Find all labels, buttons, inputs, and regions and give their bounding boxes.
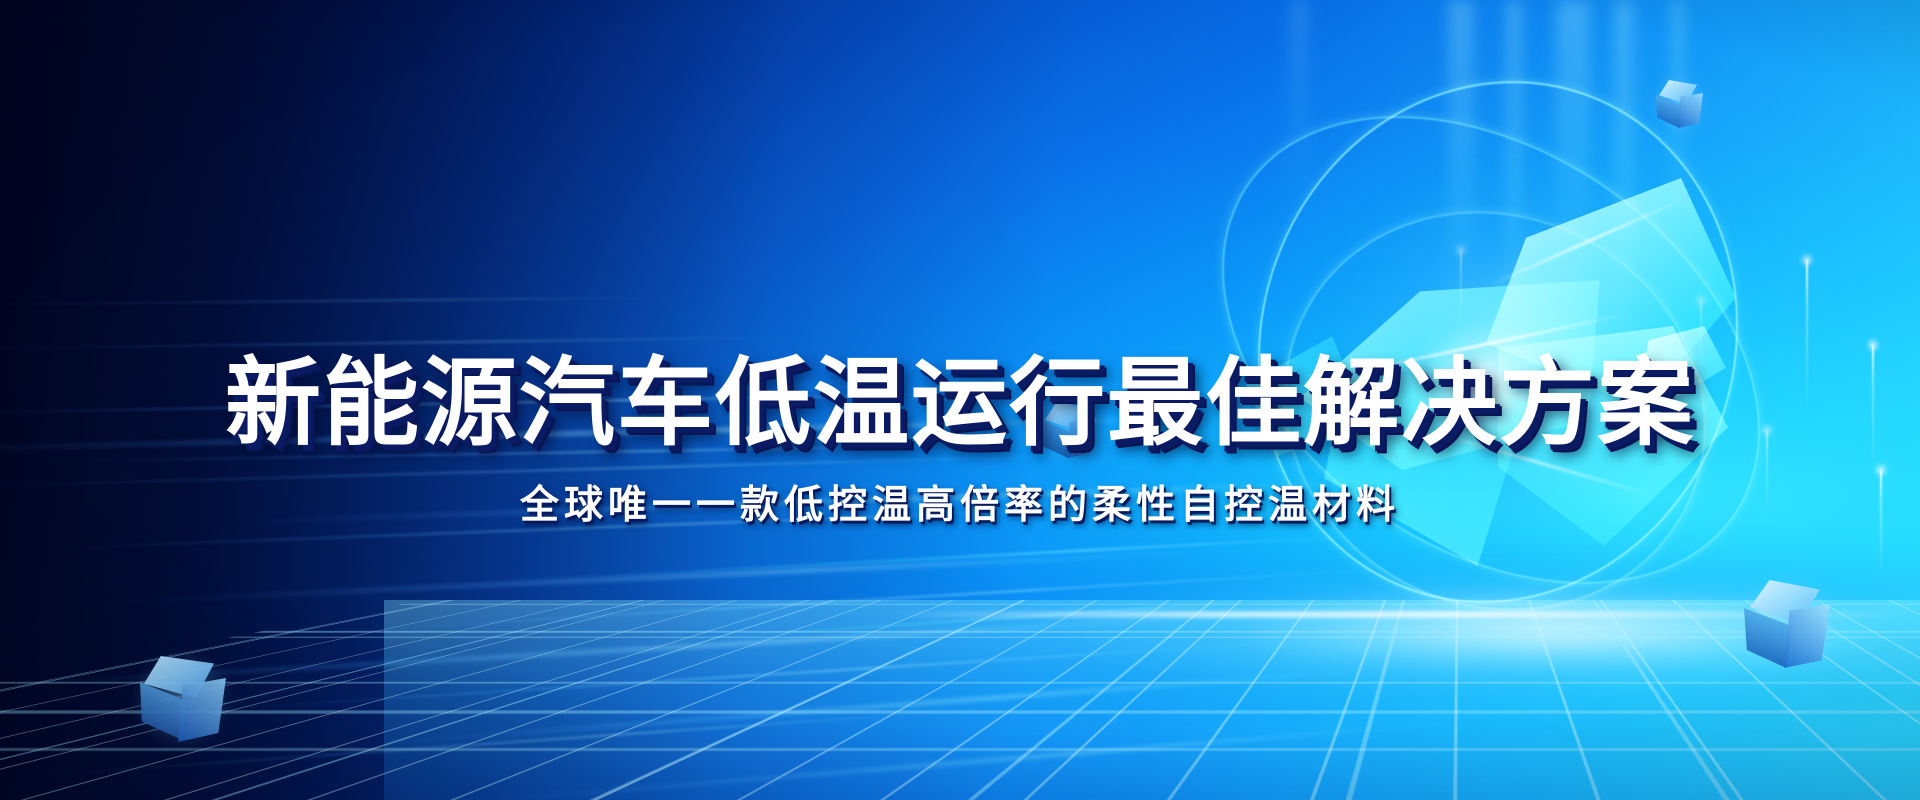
crystal-cube-graphic [1290, 130, 1750, 550]
hero-banner: 新能源汽车低温运行最佳解决方案 全球唯一一款低控温高倍率的柔性自控温材料 [0, 0, 1920, 800]
floating-cube-top-right [1655, 80, 1703, 130]
floating-cube-bottom-right [1742, 580, 1830, 672]
floating-cube-mid-left [1040, 402, 1096, 460]
circuit-floor [0, 600, 1920, 800]
floating-cube-bottom-left [138, 656, 224, 742]
